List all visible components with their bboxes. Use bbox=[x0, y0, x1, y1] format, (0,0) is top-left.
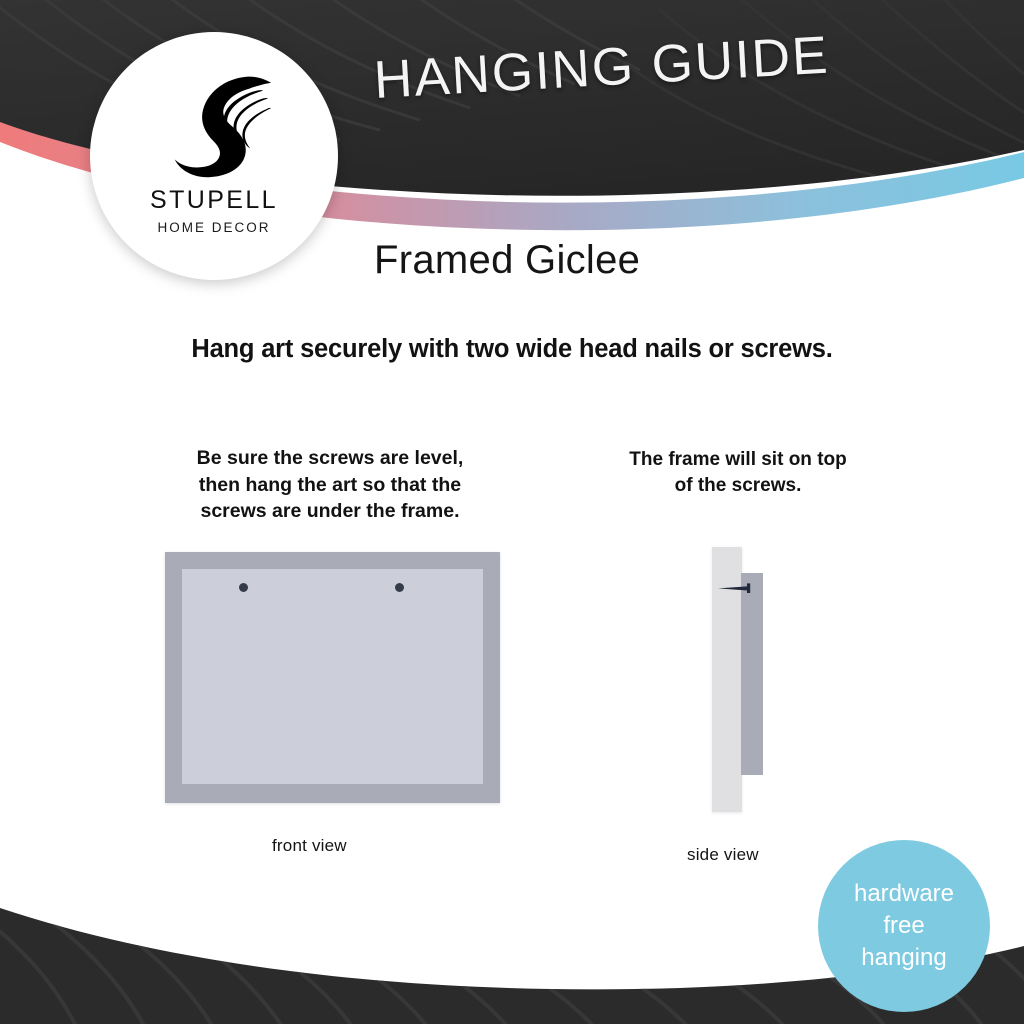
front-view-label: front view bbox=[272, 836, 347, 856]
stupell-swoosh-icon bbox=[155, 68, 273, 180]
product-title: Framed Giclee bbox=[374, 238, 640, 283]
front-view-frame-diagram bbox=[165, 552, 500, 803]
main-instruction: Hang art securely with two wide head nai… bbox=[0, 335, 1024, 364]
instruction-line: of the screws. bbox=[588, 473, 888, 499]
side-view-frame bbox=[741, 573, 763, 775]
front-view-instructions: Be sure the screws are level, then hang … bbox=[150, 445, 510, 525]
badge-line-2: free bbox=[883, 910, 924, 942]
instruction-line: then hang the art so that the bbox=[150, 472, 510, 499]
instruction-line: The frame will sit on top bbox=[588, 447, 888, 473]
frame-artwork-area bbox=[182, 569, 483, 784]
brand-tagline: HOME DECOR bbox=[157, 220, 270, 235]
page-title: HANGING GUIDE bbox=[372, 25, 831, 111]
brand-wordmark: STUPELL bbox=[150, 186, 278, 215]
hanging-guide-page: HANGING GUIDE STUPELL HOME DECOR Framed … bbox=[0, 0, 1024, 1024]
brand-logo-badge: STUPELL HOME DECOR bbox=[90, 32, 338, 280]
nail-icon bbox=[716, 581, 756, 595]
side-view-instructions: The frame will sit on top of the screws. bbox=[588, 447, 888, 499]
instruction-line: Be sure the screws are level, bbox=[150, 445, 510, 472]
screw-dot-right bbox=[395, 583, 404, 592]
badge-line-1: hardware bbox=[854, 878, 954, 910]
badge-line-3: hanging bbox=[861, 942, 946, 974]
screw-dot-left bbox=[239, 583, 248, 592]
instruction-line: screws are under the frame. bbox=[150, 498, 510, 525]
hardware-free-hanging-badge: hardware free hanging bbox=[818, 840, 990, 1012]
side-view-label: side view bbox=[687, 845, 759, 865]
